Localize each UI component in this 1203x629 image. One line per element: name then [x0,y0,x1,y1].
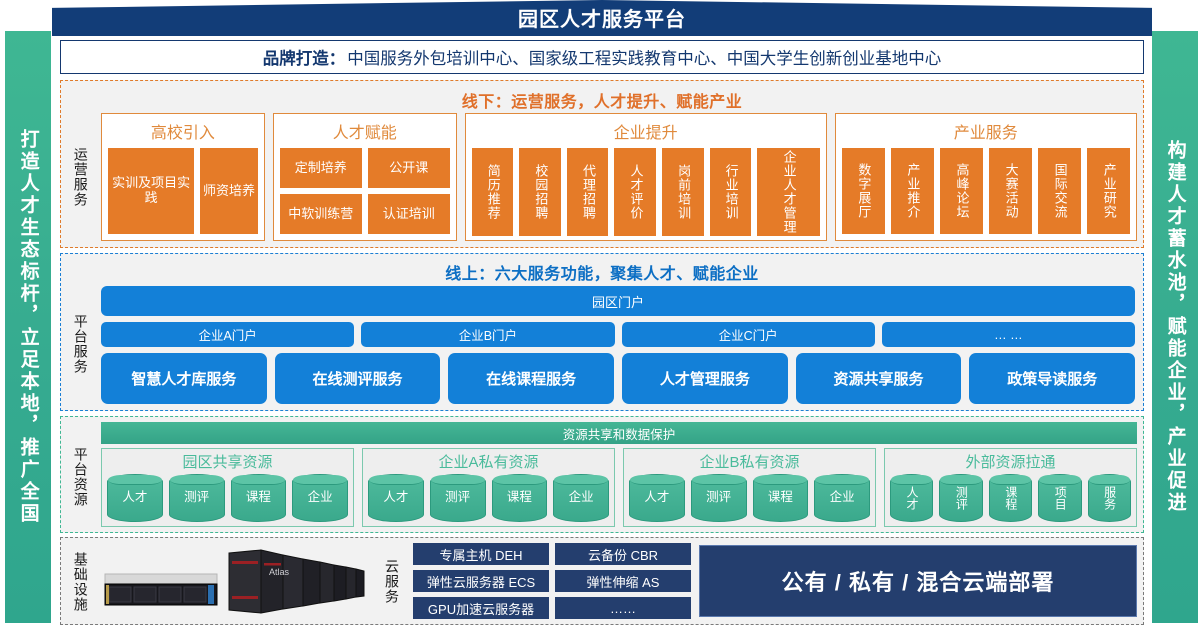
resource-group-title: 企业B私有资源 [629,450,870,474]
offline-vlabel-text: 运营服务 [72,147,87,207]
page-title: 园区人才服务平台 [52,0,1152,36]
resource-cylinder-label: 测评 [184,491,209,504]
resource-cylinder[interactable]: 项目 [1038,474,1081,522]
resource-cylinder[interactable]: 服务 [1088,474,1131,522]
resource-cylinder-list: 人才测评课程项目服务 [890,474,1131,522]
portal-main[interactable]: 园区门户 [101,286,1135,316]
offline-group: 企业提升简历推荐校园招聘代理招聘人才评价岗前培训行业培训企业人才管理 [465,113,827,241]
offline-group-title: 高校引入 [107,117,259,147]
resource-cylinder-label: 人才 [383,491,408,504]
resource-group: 企业B私有资源人才测评课程企业 [623,448,876,527]
resource-cylinder-label: 人才 [644,491,669,504]
resource-cylinder-label: 课程 [1004,486,1017,510]
cloud-service-label: 云服务 [379,541,405,621]
resource-cylinder[interactable]: 测评 [939,474,982,522]
offline-cell[interactable]: 岗前培训 [661,147,705,237]
resource-group: 外部资源拉通人才测评课程项目服务 [884,448,1137,527]
rack-server-image [105,574,217,605]
resource-cylinder-label: 课程 [507,491,532,504]
resource-cylinder-label: 企业 [830,491,855,504]
service-item[interactable]: 人才管理服务 [622,353,788,404]
portal-row: 企业A门户企业B门户企业C门户… … [101,322,1135,347]
offline-group-list: 高校引入实训及项目实践师资培养人才赋能定制培养公开课中软训练营认证培训企业提升简… [101,113,1137,241]
portal-item[interactable]: 企业A门户 [101,322,354,347]
cloud-service-chip[interactable]: 云备份 CBR [555,543,691,565]
cloud-service-chip[interactable]: GPU加速云服务器 [413,597,549,619]
cloud-service-chip[interactable]: …… [555,597,691,619]
service-item[interactable]: 资源共享服务 [796,353,962,404]
brand-bar: 品牌打造： 中国服务外包培训中心、国家级工程实践教育中心、中国大学生创新创业基地… [60,40,1144,74]
offline-group-title: 产业服务 [841,117,1132,147]
offline-group: 高校引入实训及项目实践师资培养 [101,113,265,241]
resources-content: 资源共享和数据保护 园区共享资源人才测评课程企业企业A私有资源人才测评课程企业企… [101,422,1137,527]
resource-cylinder[interactable]: 课程 [753,474,809,522]
resource-cylinder[interactable]: 测评 [430,474,486,522]
service-item[interactable]: 政策导读服务 [969,353,1135,404]
deployment-banner: 公有 / 私有 / 混合云端部署 [699,545,1137,617]
offline-cell[interactable]: 公开课 [367,147,451,189]
resources-group-list: 园区共享资源人才测评课程企业企业A私有资源人才测评课程企业企业B私有资源人才测评… [101,448,1137,527]
service-item[interactable]: 在线测评服务 [275,353,441,404]
offline-cell[interactable]: 企业人才管理 [756,147,820,237]
resource-cylinder-list: 人才测评课程企业 [629,474,870,522]
offline-cell[interactable]: 代理招聘 [566,147,610,237]
resource-group: 园区共享资源人才测评课程企业 [101,448,354,527]
cloud-service-label-text: 云服务 [382,559,402,604]
resource-cylinder[interactable]: 人才 [890,474,933,522]
service-item[interactable]: 智慧人才库服务 [101,353,267,404]
brand-bar-label: 品牌打造： [263,45,346,69]
service-item[interactable]: 在线课程服务 [448,353,614,404]
offline-cell[interactable]: 行业培训 [709,147,753,237]
resource-cylinder[interactable]: 人才 [629,474,685,522]
portal-item[interactable]: 企业B门户 [361,322,614,347]
resource-cylinder[interactable]: 企业 [292,474,348,522]
resource-cylinder-label: 项目 [1054,486,1067,510]
resource-cylinder[interactable]: 测评 [691,474,747,522]
svg-text:Atlas: Atlas [269,567,290,577]
resource-cylinder-list: 人才测评课程企业 [107,474,348,522]
resource-group-title: 外部资源拉通 [890,450,1131,474]
brand-bar-content: 中国服务外包培训中心、国家级工程实践教育中心、中国大学生创新创业基地中心 [347,45,941,69]
offline-cell-list: 实训及项目实践师资培养 [107,147,259,235]
offline-cell[interactable]: 数字展厅 [841,147,886,235]
resource-cylinder[interactable]: 课程 [492,474,548,522]
online-vlabel-text: 平台服务 [72,314,87,374]
cloud-chip-columns: 专属主机 DEH弹性云服务器 ECSGPU加速云服务器 云备份 CBR弹性伸缩 … [413,543,691,619]
online-content: 园区门户 企业A门户企业B门户企业C门户… … 智慧人才库服务在线测评服务在线课… [101,286,1135,404]
resource-group-title: 企业A私有资源 [368,450,609,474]
offline-cell[interactable]: 产业推介 [890,147,935,235]
resource-cylinder-label: 人才 [905,486,918,510]
online-section: 线上：六大服务功能，聚集人才、赋能企业 平台服务 园区门户 企业A门户企业B门户… [60,253,1144,411]
online-title: 线上：六大服务功能，聚集人才、赋能企业 [61,260,1143,284]
infra-content: Atlas 云服务 专属主机 DEH弹性云服务器 ECSGPU加速云服务器 云备… [101,541,1137,621]
offline-cell[interactable]: 大赛活动 [988,147,1033,235]
left-pillar: 打造人才生态标杆，立足本地，推广全国 [4,30,52,624]
offline-group: 产业服务数字展厅产业推介高峰论坛大赛活动国际交流产业研究 [835,113,1138,241]
diagram-root: 打造人才生态标杆，立足本地，推广全国 构建人才蓄水池，赋能企业，产业促进 园区人… [0,0,1203,629]
offline-cell[interactable]: 校园招聘 [518,147,562,237]
offline-cell[interactable]: 高峰论坛 [939,147,984,235]
offline-group: 人才赋能定制培养公开课中软训练营认证培训 [273,113,457,241]
resource-cylinder[interactable]: 课程 [989,474,1032,522]
service-row: 智慧人才库服务在线测评服务在线课程服务人才管理服务资源共享服务政策导读服务 [101,353,1135,404]
offline-cell-list: 简历推荐校园招聘代理招聘人才评价岗前培训行业培训企业人才管理 [471,147,821,237]
resource-cylinder[interactable]: 人才 [368,474,424,522]
cloud-chip-column-1: 专属主机 DEH弹性云服务器 ECSGPU加速云服务器 [413,543,549,619]
portal-item[interactable]: … … [882,322,1135,347]
resource-group-title: 园区共享资源 [107,450,348,474]
resource-cylinder-label: 企业 [569,491,594,504]
offline-cell[interactable]: 师资培养 [199,147,259,235]
roof-banner: 园区人才服务平台 [52,0,1152,36]
offline-title: 线下：运营服务，人才提升、赋能产业 [61,88,1143,112]
offline-cell[interactable]: 认证培训 [367,193,451,235]
offline-cell[interactable]: 国际交流 [1037,147,1082,235]
cloud-service-chip[interactable]: 专属主机 DEH [413,543,549,565]
offline-cell[interactable]: 人才评价 [613,147,657,237]
infra-vlabel-text: 基础设施 [72,552,87,612]
resource-cylinder-label: 课程 [768,491,793,504]
portal-item[interactable]: 企业C门户 [622,322,875,347]
resource-cylinder-label: 测评 [445,491,470,504]
offline-section: 线下：运营服务，人才提升、赋能产业 运营服务 高校引入实训及项目实践师资培养人才… [60,80,1144,248]
left-pillar-text: 打造人才生态标杆，立足本地，推广全国 [16,129,39,525]
resource-cylinder[interactable]: 企业 [553,474,609,522]
cloud-service-chip[interactable]: 弹性云服务器 ECS [413,570,549,592]
offline-cell[interactable]: 中软训练营 [279,193,363,235]
resource-cylinder-list: 人才测评课程企业 [368,474,609,522]
infra-vertical-label: 基础设施 [63,544,97,620]
offline-cell-list: 数字展厅产业推介高峰论坛大赛活动国际交流产业研究 [841,147,1132,235]
resource-cylinder-label: 人才 [122,491,147,504]
online-vertical-label: 平台服务 [63,284,97,404]
offline-cell[interactable]: 定制培养 [279,147,363,189]
resource-cylinder[interactable]: 课程 [231,474,287,522]
resource-cylinder-label: 服务 [1103,486,1116,510]
resource-cylinder-label: 测评 [706,491,731,504]
cloud-service-chip[interactable]: 弹性伸缩 AS [555,570,691,592]
resource-cylinder-label: 企业 [308,491,333,504]
hardware-images: Atlas [101,541,371,621]
offline-cell[interactable]: 产业研究 [1086,147,1131,235]
resource-cylinder-label: 课程 [246,491,271,504]
right-pillar: 构建人才蓄水池，赋能企业，产业促进 [1151,30,1199,624]
resource-cylinder-label: 测评 [955,486,968,510]
atlas-server-cabinets-image: Atlas [229,550,364,613]
offline-group-title: 人才赋能 [279,117,451,147]
offline-vertical-label: 运营服务 [63,111,97,243]
resources-vertical-label: 平台资源 [63,429,97,524]
server-hardware-icon: Atlas [101,541,371,621]
resources-section: 平台资源 资源共享和数据保护 园区共享资源人才测评课程企业企业A私有资源人才测评… [60,416,1144,533]
resource-cylinder[interactable]: 人才 [107,474,163,522]
resources-header: 资源共享和数据保护 [101,422,1137,444]
cloud-chip-column-2: 云备份 CBR弹性伸缩 AS…… [555,543,691,619]
offline-group-title: 企业提升 [471,117,821,147]
right-pillar-text: 构建人才蓄水池，赋能企业，产业促进 [1163,140,1186,514]
resources-vlabel-text: 平台资源 [72,447,87,507]
resource-group: 企业A私有资源人才测评课程企业 [362,448,615,527]
offline-cell[interactable]: 简历推荐 [471,147,515,237]
infrastructure-section: 基础设施 [60,537,1144,625]
resource-cylinder[interactable]: 测评 [169,474,225,522]
offline-cell-list: 定制培养公开课中软训练营认证培训 [279,147,451,235]
resource-cylinder[interactable]: 企业 [814,474,870,522]
offline-cell[interactable]: 实训及项目实践 [107,147,195,235]
